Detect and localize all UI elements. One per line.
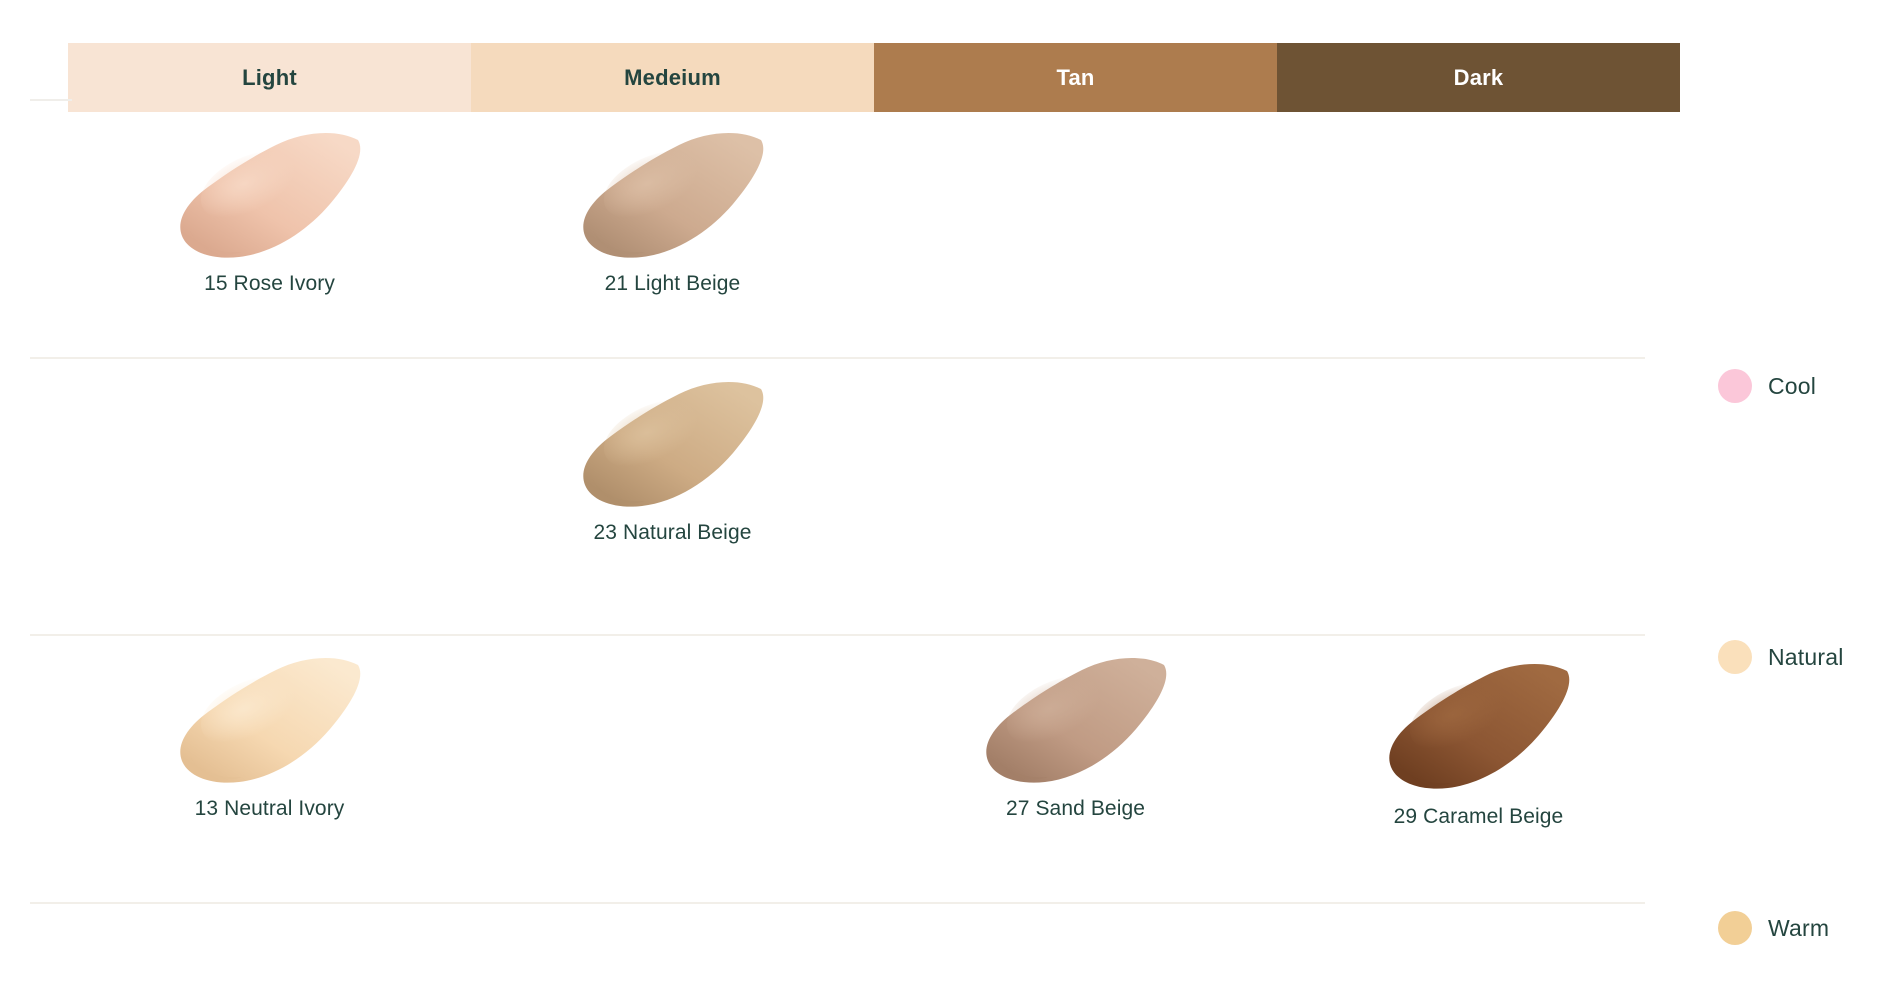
shade-cell-15-rose-ivory[interactable]: 15 Rose Ivory <box>68 112 471 358</box>
shade-label: 27 Sand Beige <box>1006 797 1145 821</box>
foundation-swatch-icon <box>575 376 771 511</box>
shade-cell-29-caramel-beige[interactable]: 29 Caramel Beige <box>1277 635 1680 912</box>
header-cell-medium[interactable]: Medeium <box>471 43 874 112</box>
legend-item-warm[interactable]: Warm <box>1718 911 1829 945</box>
legend-item-natural[interactable]: Natural <box>1718 640 1844 674</box>
legend-label: Cool <box>1768 373 1816 400</box>
shade-label: 15 Rose Ivory <box>204 272 335 296</box>
shade-row-cool: 15 Rose Ivory <box>68 112 1680 358</box>
header-label-light: Light <box>242 67 297 89</box>
shade-cell-13-neutral-ivory[interactable]: 13 Neutral Ivory <box>68 635 471 912</box>
header-label-tan: Tan <box>1056 67 1094 89</box>
undertone-dot-icon <box>1718 369 1752 403</box>
header-label-medium: Medeium <box>624 67 721 89</box>
row-divider <box>30 902 1645 904</box>
shade-row-natural: 23 Natural Beige <box>68 358 1680 635</box>
shade-grid: 15 Rose Ivory <box>68 112 1680 912</box>
depth-header-band: Light Medeium Tan Dark <box>68 43 1680 112</box>
legend-item-cool[interactable]: Cool <box>1718 369 1816 403</box>
header-tick-line <box>30 99 72 101</box>
shade-cell-23-natural-beige[interactable]: 23 Natural Beige <box>471 358 874 635</box>
row-divider <box>30 357 1645 359</box>
legend-label: Warm <box>1768 915 1829 942</box>
shade-row-warm: 13 Neutral Ivory <box>68 635 1680 912</box>
header-cell-light[interactable]: Light <box>68 43 471 112</box>
foundation-swatch-icon <box>1381 658 1577 793</box>
header-label-dark: Dark <box>1454 67 1504 89</box>
shade-matching-chart: Light Medeium Tan Dark <box>0 0 1884 986</box>
shade-label: 21 Light Beige <box>605 272 741 296</box>
foundation-swatch-icon <box>978 652 1174 787</box>
row-divider <box>30 634 1645 636</box>
shade-label: 13 Neutral Ivory <box>195 797 345 821</box>
shade-cell-21-light-beige[interactable]: 21 Light Beige <box>471 112 874 358</box>
shade-cell-27-sand-beige[interactable]: 27 Sand Beige <box>874 635 1277 912</box>
header-cell-dark[interactable]: Dark <box>1277 43 1680 112</box>
shade-label: 23 Natural Beige <box>593 521 751 545</box>
undertone-dot-icon <box>1718 640 1752 674</box>
foundation-swatch-icon <box>172 127 368 262</box>
undertone-dot-icon <box>1718 911 1752 945</box>
foundation-swatch-icon <box>172 652 368 787</box>
header-cell-tan[interactable]: Tan <box>874 43 1277 112</box>
legend-label: Natural <box>1768 644 1844 671</box>
foundation-swatch-icon <box>575 127 771 262</box>
shade-label: 29 Caramel Beige <box>1394 805 1564 829</box>
